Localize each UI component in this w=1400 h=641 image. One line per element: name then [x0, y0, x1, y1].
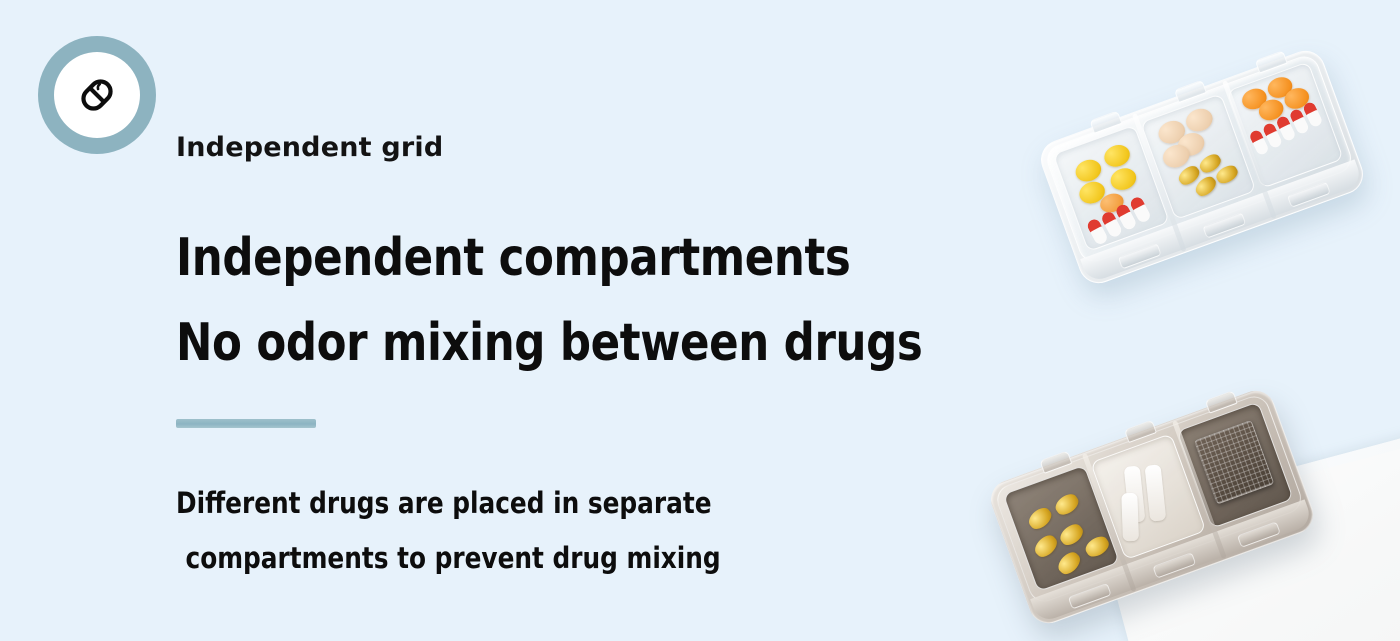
softgel-gold	[1055, 549, 1084, 578]
softgel-gold	[1083, 533, 1112, 560]
tablet-yellow	[1073, 156, 1105, 185]
body-text: Different drugs are placed in separate c…	[176, 476, 956, 586]
tablet-yellow	[1108, 165, 1140, 194]
headline-line-1: Independent compartments	[176, 216, 901, 300]
capsule-badge	[38, 36, 156, 154]
capsule-badge-inner	[54, 52, 140, 138]
tablet-beige	[1183, 105, 1216, 135]
eyebrow-label: Independent grid	[176, 132, 956, 164]
tablet-yellow	[1101, 142, 1133, 171]
capsule-white	[1144, 464, 1166, 521]
softgel-gold	[1026, 504, 1055, 532]
headline: Independent compartments No odor mixing …	[176, 216, 956, 384]
body-line-1: Different drugs are placed in separate	[176, 476, 917, 531]
softgel-gold	[1052, 490, 1081, 518]
body-line-2: compartments to prevent drug mixing	[176, 531, 917, 586]
accent-divider	[176, 419, 316, 428]
mesh-insert	[1194, 420, 1274, 504]
softgel-gold	[1031, 532, 1060, 561]
text-column: Independent grid Independent compartment…	[176, 132, 956, 586]
capsule-pill-icon	[69, 67, 125, 123]
softgel-gold	[1057, 521, 1086, 549]
capsule-white	[1121, 493, 1139, 542]
clear-white-pill-organizer	[1035, 45, 1368, 289]
product-feature-banner: Independent grid Independent compartment…	[0, 0, 1400, 641]
headline-line-2: No odor mixing between drugs	[176, 301, 901, 385]
